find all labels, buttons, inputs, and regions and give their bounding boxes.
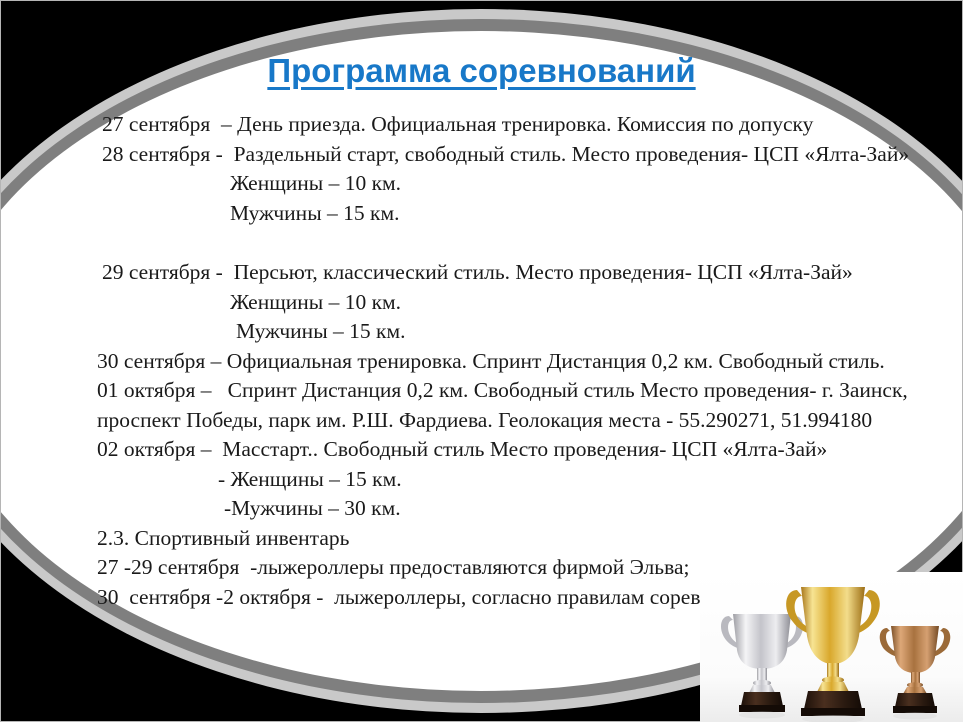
program-line-3: Женщины – 10 км. [0, 169, 963, 199]
page-title: Программа соревнований [0, 52, 963, 90]
silver-trophy-reflection [739, 712, 785, 719]
program-line-1: 27 сентября – День приезда. Официальная … [0, 110, 963, 140]
program-line-2: 28 сентября - Раздельный старт, свободны… [0, 140, 963, 170]
program-line-7: Мужчины – 15 км. [0, 317, 963, 347]
trophies-image [700, 572, 963, 722]
program-line-14: 2.3. Спортивный инвентарь [0, 524, 963, 554]
program-text-block: 27 сентября – День приезда. Официальная … [0, 110, 963, 612]
program-line-8: 30 сентября – Официальная тренировка. Сп… [0, 347, 963, 377]
program-line-4: Мужчины – 15 км. [0, 199, 963, 229]
program-line-12: - Женщины – 15 км. [0, 465, 963, 495]
bronze-trophy-reflection [893, 713, 937, 720]
program-blank-line [0, 228, 963, 258]
program-line-13: -Мужчины – 30 км. [0, 494, 963, 524]
program-line-11: 02 октября – Масстарт.. Свободный стиль … [0, 435, 963, 465]
program-line-6: Женщины – 10 км. [0, 288, 963, 318]
slide-canvas: Программа соревнований 27 сентября – Ден… [0, 0, 963, 722]
program-line-9: 01 октября – Спринт Дистанция 0,2 км. Св… [0, 376, 963, 406]
program-line-5: 29 сентября - Персьют, классический стил… [0, 258, 963, 288]
program-line-10: проспект Победы, парк им. Р.Ш. Фардиева.… [0, 406, 963, 436]
